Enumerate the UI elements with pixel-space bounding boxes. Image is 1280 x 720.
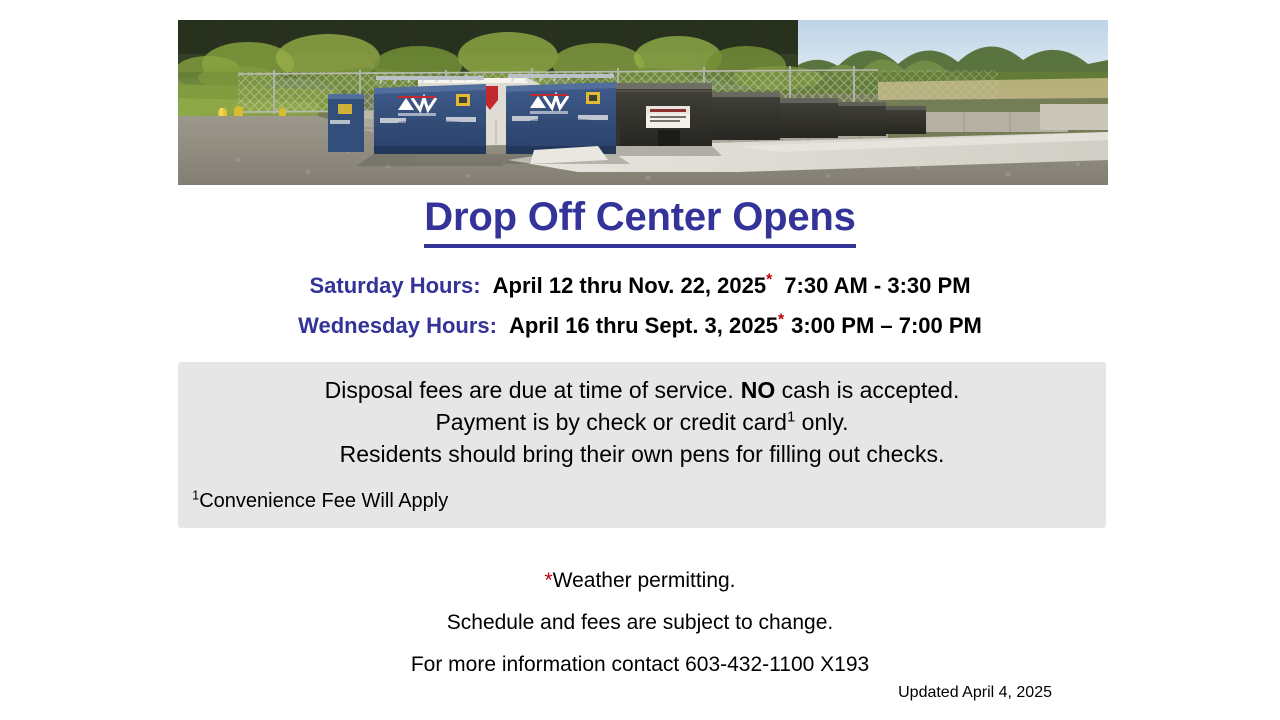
wednesday-hours-line: Wednesday Hours:April 16 thru Sept. 3, 2… [0, 306, 1280, 346]
wednesday-hours-dates: April 16 thru Sept. 3, 2025 [509, 313, 778, 338]
saturday-hours-dates: April 12 thru Nov. 22, 2025 [493, 273, 766, 298]
payment-line-1-part-b: cash is accepted. [782, 377, 960, 403]
saturday-hours-line: Saturday Hours:April 12 thru Nov. 22, 20… [0, 266, 1280, 306]
hours-section: Saturday Hours:April 12 thru Nov. 22, 20… [0, 266, 1280, 346]
page-title: Drop Off Center Opens [0, 192, 1280, 248]
wednesday-hours-times: 3:00 PM – 7:00 PM [791, 313, 982, 338]
weather-note: *Weather permitting. [0, 560, 1280, 602]
wednesday-hours-label: Wednesday Hours: [298, 313, 497, 338]
payment-line-1: Disposal fees are due at time of service… [178, 374, 1106, 406]
payment-line-3: Residents should bring their own pens fo… [178, 438, 1106, 470]
saturday-hours-label: Saturday Hours: [309, 273, 480, 298]
saturday-asterisk: * [766, 272, 772, 289]
payment-info-body: Disposal fees are due at time of service… [178, 362, 1106, 470]
panel-footnote: 1Convenience Fee Will Apply [192, 490, 448, 513]
payment-line-2-part-a: Payment is by check or credit card [435, 409, 787, 435]
wednesday-asterisk: * [778, 312, 784, 329]
payment-footnote-marker: 1 [787, 408, 795, 425]
schedule-note: Schedule and fees are subject to change. [0, 602, 1280, 644]
drop-off-center-photo [178, 20, 1108, 185]
weather-asterisk: * [544, 569, 552, 592]
contact-note: For more information contact 603-432-110… [0, 644, 1280, 686]
payment-no-emphasis: NO [741, 377, 776, 403]
updated-stamp: Updated April 4, 2025 [898, 684, 1052, 702]
payment-info-panel: Disposal fees are due at time of service… [178, 362, 1106, 528]
payment-line-2-part-b: only. [802, 409, 849, 435]
payment-line-1-part-a: Disposal fees are due at time of service… [325, 377, 734, 403]
weather-note-text: Weather permitting. [553, 569, 736, 592]
payment-line-2: Payment is by check or credit card1 only… [178, 406, 1106, 438]
saturday-hours-times: 7:30 AM - 3:30 PM [784, 273, 970, 298]
photo-illustration [178, 20, 1108, 185]
page-title-text: Drop Off Center Opens [424, 192, 855, 248]
footer-notes: *Weather permitting. Schedule and fees a… [0, 560, 1280, 686]
panel-footnote-text: Convenience Fee Will Apply [199, 490, 448, 512]
